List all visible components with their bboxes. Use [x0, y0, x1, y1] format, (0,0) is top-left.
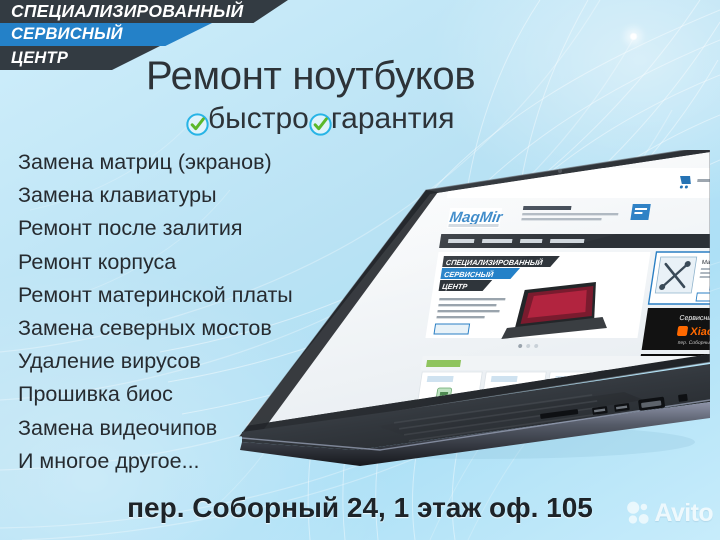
ribbon-specialized: СПЕЦИАЛИЗИРОВАННЫЙ [0, 0, 288, 23]
list-item: Замена северных мостов [18, 312, 348, 345]
ribbon-service-label: СЕРВИСНЫЙ [11, 25, 123, 44]
glow-dot-decoration [629, 32, 638, 41]
list-item: Замена видеочипов [18, 412, 348, 445]
svg-text:ЦЕНТР: ЦЕНТР [442, 282, 469, 291]
svg-text:пер. Соборный 24 оф. 105: пер. Соборный 24 оф. 105 [677, 339, 710, 346]
ribbon-service: СЕРВИСНЫЙ [0, 23, 212, 46]
svg-text:17:42: 17:42 [704, 436, 710, 442]
check-circle-icon [309, 110, 332, 133]
services-list: Замена матриц (экранов) Замена клавиатур… [18, 146, 348, 478]
address-text: пер. Соборный 24, 1 этаж оф. 105 [0, 492, 720, 524]
avito-dots-icon [626, 501, 651, 526]
svg-text:MagMir сервис: MagMir сервис [701, 260, 710, 266]
list-item: И многое другое... [18, 445, 348, 478]
list-item: Ремонт корпуса [18, 246, 348, 279]
list-item: Ремонт после залития [18, 212, 348, 245]
avito-wordmark: Avito [654, 499, 713, 528]
list-item: Замена клавиатуры [18, 179, 348, 212]
list-item: Ремонт материнской платы [18, 279, 348, 312]
avito-watermark: Avito [626, 499, 713, 528]
svg-text:Xiaomi: Xiaomi [689, 326, 710, 338]
svg-text:Сервисный центр: Сервисный центр [679, 314, 710, 322]
page-title: Ремонт ноутбуков [146, 54, 566, 99]
poster-canvas: СПЕЦИАЛИЗИРОВАННЫЙ СЕРВИСНЫЙ ЦЕНТР Ремон… [0, 0, 720, 540]
list-item: Прошивка биос [18, 378, 348, 411]
list-item: Удаление вирусов [18, 345, 348, 378]
benefit-label-warranty: гарантия [331, 102, 455, 136]
benefits-line: быстро гарантия [186, 102, 455, 136]
check-circle-icon [186, 110, 209, 133]
ribbon-center-label: ЦЕНТР [11, 49, 68, 68]
list-item: Замена матриц (экранов) [18, 146, 348, 179]
ribbon-specialized-label: СПЕЦИАЛИЗИРОВАННЫЙ [11, 1, 243, 22]
benefit-label-fast: быстро [208, 102, 309, 136]
ribbon-center: ЦЕНТР [0, 46, 160, 70]
